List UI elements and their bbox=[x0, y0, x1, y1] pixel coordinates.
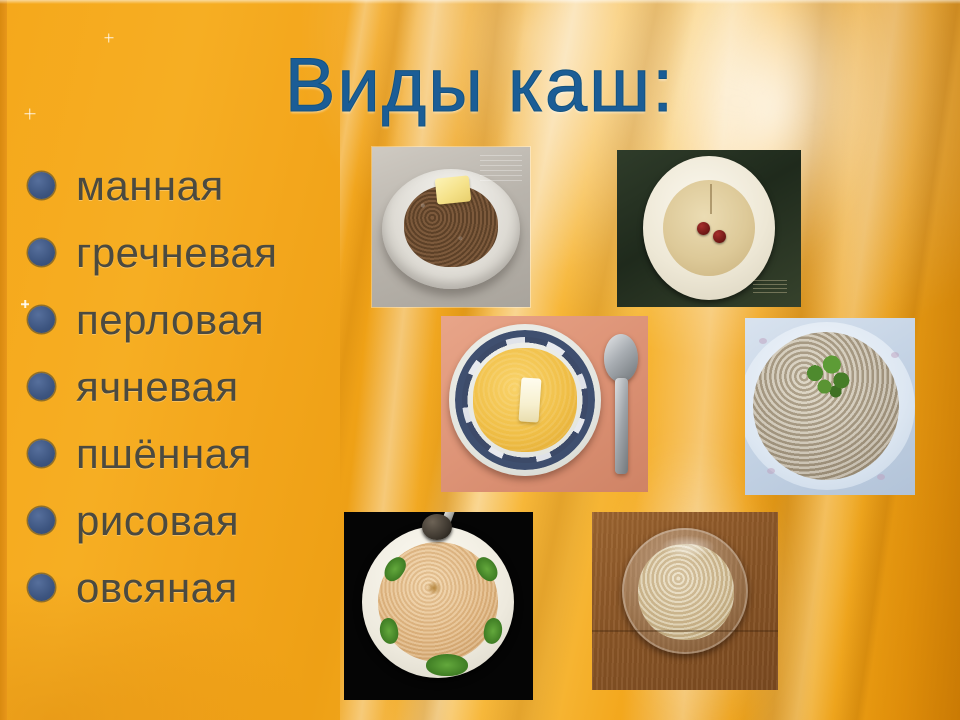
photo-pearl-barley-porridge bbox=[745, 318, 915, 495]
list-item-label: перловая bbox=[76, 299, 264, 341]
bullet-dot-icon bbox=[28, 373, 55, 400]
bullet-dot-icon bbox=[28, 306, 55, 333]
photo-millet-porridge-with-spoon bbox=[441, 316, 648, 492]
list-item-label: рисовая bbox=[76, 500, 239, 542]
list-item-label: ячневая bbox=[76, 366, 239, 408]
photo-semolina-with-cherries bbox=[617, 150, 801, 307]
porridge-mass bbox=[638, 544, 734, 640]
list-item-label: овсяная bbox=[76, 567, 238, 609]
list-item: гречневая bbox=[28, 219, 278, 286]
leaf-decor-icon bbox=[426, 654, 468, 676]
porridge-mass bbox=[663, 180, 755, 276]
porridge-dip bbox=[426, 582, 442, 594]
cherry-icon bbox=[713, 230, 726, 243]
table-plank-seam bbox=[592, 630, 778, 632]
photo-oatmeal-in-glass-bowl bbox=[592, 512, 778, 690]
spoon-icon bbox=[604, 334, 638, 382]
photo-rice-porridge bbox=[344, 512, 533, 700]
list-item: овсяная bbox=[28, 554, 278, 621]
plate-shape bbox=[362, 526, 514, 678]
slide-top-border bbox=[0, 0, 960, 4]
list-item: манная bbox=[28, 152, 278, 219]
bullet-dot-icon bbox=[28, 507, 55, 534]
glass-highlight bbox=[662, 536, 714, 558]
porridge-types-list: манная гречневая перловая ячневая пшённа… bbox=[28, 152, 278, 621]
porridge-mass bbox=[473, 348, 577, 452]
plate-shape bbox=[449, 324, 601, 476]
bullet-dot-icon bbox=[28, 172, 55, 199]
porridge-mass bbox=[753, 332, 899, 480]
porridge-seam bbox=[710, 184, 712, 214]
list-item: рисовая bbox=[28, 487, 278, 554]
glass-bowl-shape bbox=[622, 528, 748, 654]
plate-floral-fleck bbox=[767, 468, 775, 474]
list-item-label: гречневая bbox=[76, 232, 278, 274]
photo-buckwheat-porridge bbox=[372, 147, 530, 307]
plate-shape bbox=[745, 322, 915, 490]
list-item-label: пшённая bbox=[76, 433, 252, 475]
butter-pat bbox=[435, 175, 472, 204]
butter-pat bbox=[518, 377, 541, 422]
plate-floral-fleck bbox=[891, 352, 899, 358]
list-item-label: манная bbox=[76, 165, 224, 207]
list-item: перловая bbox=[28, 286, 278, 353]
list-item: пшённая bbox=[28, 420, 278, 487]
ladle-icon bbox=[422, 514, 452, 540]
plate-floral-fleck bbox=[759, 338, 767, 344]
bowl-shape bbox=[382, 169, 520, 289]
photo-watermark bbox=[753, 279, 787, 293]
bullet-dot-icon bbox=[28, 440, 55, 467]
slide-canvas: Виды каш: манная гречневая перловая ячне… bbox=[0, 0, 960, 720]
spoon-handle-icon bbox=[615, 378, 628, 474]
slide-title: Виды каш: bbox=[0, 48, 960, 124]
cherry-icon bbox=[697, 222, 710, 235]
list-item: ячневая bbox=[28, 353, 278, 420]
photo-watermark bbox=[480, 155, 522, 181]
bullet-dot-icon bbox=[28, 574, 55, 601]
bullet-dot-icon bbox=[28, 239, 55, 266]
plate-floral-fleck bbox=[877, 474, 885, 480]
parsley-garnish-icon bbox=[801, 354, 857, 402]
